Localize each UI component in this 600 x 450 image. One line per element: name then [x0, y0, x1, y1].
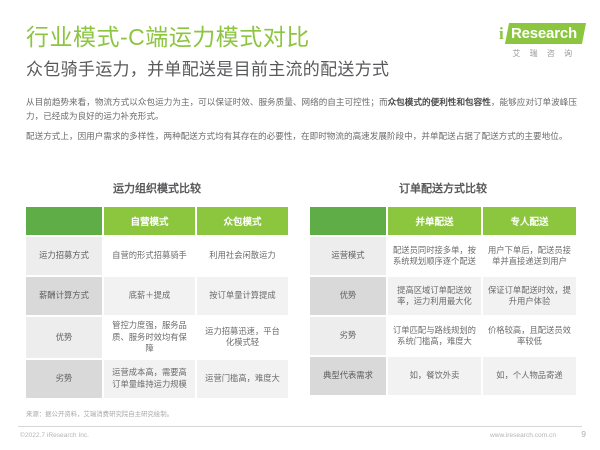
row-label: 优势: [310, 277, 386, 315]
footer-divider: [18, 426, 582, 427]
row-label: 劣势: [310, 317, 386, 355]
row-cell: 运力招募迅速，平台化模式轻: [197, 317, 288, 358]
row-label: 典型代表需求: [310, 357, 386, 395]
table-row: 劣势 运营成本高，需要高订单量维持运力规模 运营门槛高，难度大: [26, 360, 288, 398]
table-title-right: 订单配送方式比较: [308, 182, 578, 196]
page-title: 行业模式-C端运力模式对比: [26, 22, 310, 52]
row-cell: 管控力度强，服务品质、服务时效均有保障: [104, 317, 195, 358]
row-cell: 自营的形式招募骑手: [104, 237, 195, 275]
logo-i-letter: i: [499, 24, 504, 43]
logo-chinese-name: 艾 瑞 咨 询: [504, 48, 584, 59]
logo-mark: i Research: [498, 22, 584, 46]
table-title-left: 运力组织模式比较: [24, 182, 290, 196]
row-cell: 用户下单后，配送员接单并直接递送到用户: [483, 237, 576, 275]
table-corner-cell: [26, 207, 102, 235]
iresearch-logo: i Research 艾 瑞 咨 询: [498, 22, 584, 62]
paragraph-1: 从目前趋势来看，物流方式以众包运力为主，可以保证时效、服务质量、网络的自主可控性…: [26, 96, 577, 123]
row-cell: 运营门槛高，难度大: [197, 360, 288, 398]
table-block-delivery-method: 订单配送方式比较 并单配送 专人配送 运营模式 配送员同时接多单，按系统规划顺序…: [308, 182, 578, 397]
table-row: 运营模式 配送员同时接多单，按系统规划顺序逐个配送 用户下单后，配送员接单并直接…: [310, 237, 576, 275]
row-cell: 运营成本高，需要高订单量维持运力规模: [104, 360, 195, 398]
row-cell: 保证订单配送时效，提升用户体验: [483, 277, 576, 315]
page-number: 9: [581, 428, 586, 440]
table-row: 劣势 订单匹配与路线规划的系统门槛高，难度大 价格较高，且配送员效率较低: [310, 317, 576, 355]
row-cell: 如，个人物品寄递: [483, 357, 576, 395]
table-delivery-method: 并单配送 专人配送 运营模式 配送员同时接多单，按系统规划顺序逐个配送 用户下单…: [308, 205, 578, 397]
column-header-self-operated: 自营模式: [104, 207, 195, 235]
page-subtitle: 众包骑手运力，并单配送是目前主流的配送方式: [26, 58, 389, 82]
table-transport-model: 自营模式 众包模式 运力招募方式 自营的形式招募骑手 利用社会闲散运力 薪酬计算…: [24, 205, 290, 400]
row-cell: 订单匹配与路线规划的系统门槛高，难度大: [388, 317, 481, 355]
row-label: 运力招募方式: [26, 237, 102, 275]
row-cell: 如，餐饮外卖: [388, 357, 481, 395]
column-header-batched-delivery: 并单配送: [388, 207, 481, 235]
table-row: 优势 管控力度强，服务品质、服务时效均有保障 运力招募迅速，平台化模式轻: [26, 317, 288, 358]
table-row: 优势 提高区域订单配送效率，运力利用最大化 保证订单配送时效，提升用户体验: [310, 277, 576, 315]
paragraph-1-emphasis: 众包模式的便利性和包容性: [388, 97, 491, 107]
table-block-transport-model: 运力组织模式比较 自营模式 众包模式 运力招募方式 自营的形式招募骑手 利用社会…: [24, 182, 290, 400]
copyright-text: ©2022.7 iResearch Inc.: [20, 431, 89, 441]
body-paragraphs: 从目前趋势来看，物流方式以众包运力为主，可以保证时效、服务质量、网络的自主可控性…: [26, 96, 577, 151]
paragraph-2: 配送方式上，因用户需求的多样性，两种配送方式均有其存在的必要性，在即时物流的高速…: [26, 130, 577, 144]
slide-header: 行业模式-C端运力模式对比 众包骑手运力，并单配送是目前主流的配送方式 i Re…: [0, 0, 600, 62]
table-corner-cell: [310, 207, 386, 235]
row-cell: 价格较高，且配送员效率较低: [483, 317, 576, 355]
table-row: 典型代表需求 如，餐饮外卖 如，个人物品寄递: [310, 357, 576, 395]
row-label: 运营模式: [310, 237, 386, 275]
column-header-crowdsourced: 众包模式: [197, 207, 288, 235]
table-row: 薪酬计算方式 底薪＋提成 按订单量计算提成: [26, 277, 288, 315]
logo-wordmark: Research: [511, 24, 577, 43]
table-header-row: 并单配送 专人配送: [310, 207, 576, 235]
row-cell: 利用社会闲散运力: [197, 237, 288, 275]
paragraph-1-pre: 从目前趋势来看，物流方式以众包运力为主，可以保证时效、服务质量、网络的自主可控性…: [26, 97, 388, 107]
row-label: 劣势: [26, 360, 102, 398]
row-cell: 按订单量计算提成: [197, 277, 288, 315]
row-label: 优势: [26, 317, 102, 358]
row-cell: 底薪＋提成: [104, 277, 195, 315]
row-cell: 配送员同时接多单，按系统规划顺序逐个配送: [388, 237, 481, 275]
row-cell: 提高区域订单配送效率，运力利用最大化: [388, 277, 481, 315]
slide-page: 行业模式-C端运力模式对比 众包骑手运力，并单配送是目前主流的配送方式 i Re…: [0, 0, 600, 450]
source-note: 来源：据公开资料，艾瑞消费研究院自主研究绘制。: [26, 410, 173, 419]
table-header-row: 自营模式 众包模式: [26, 207, 288, 235]
row-label: 薪酬计算方式: [26, 277, 102, 315]
table-row: 运力招募方式 自营的形式招募骑手 利用社会闲散运力: [26, 237, 288, 275]
website-url: www.iresearch.com.cn: [490, 431, 556, 441]
column-header-dedicated-delivery: 专人配送: [483, 207, 576, 235]
